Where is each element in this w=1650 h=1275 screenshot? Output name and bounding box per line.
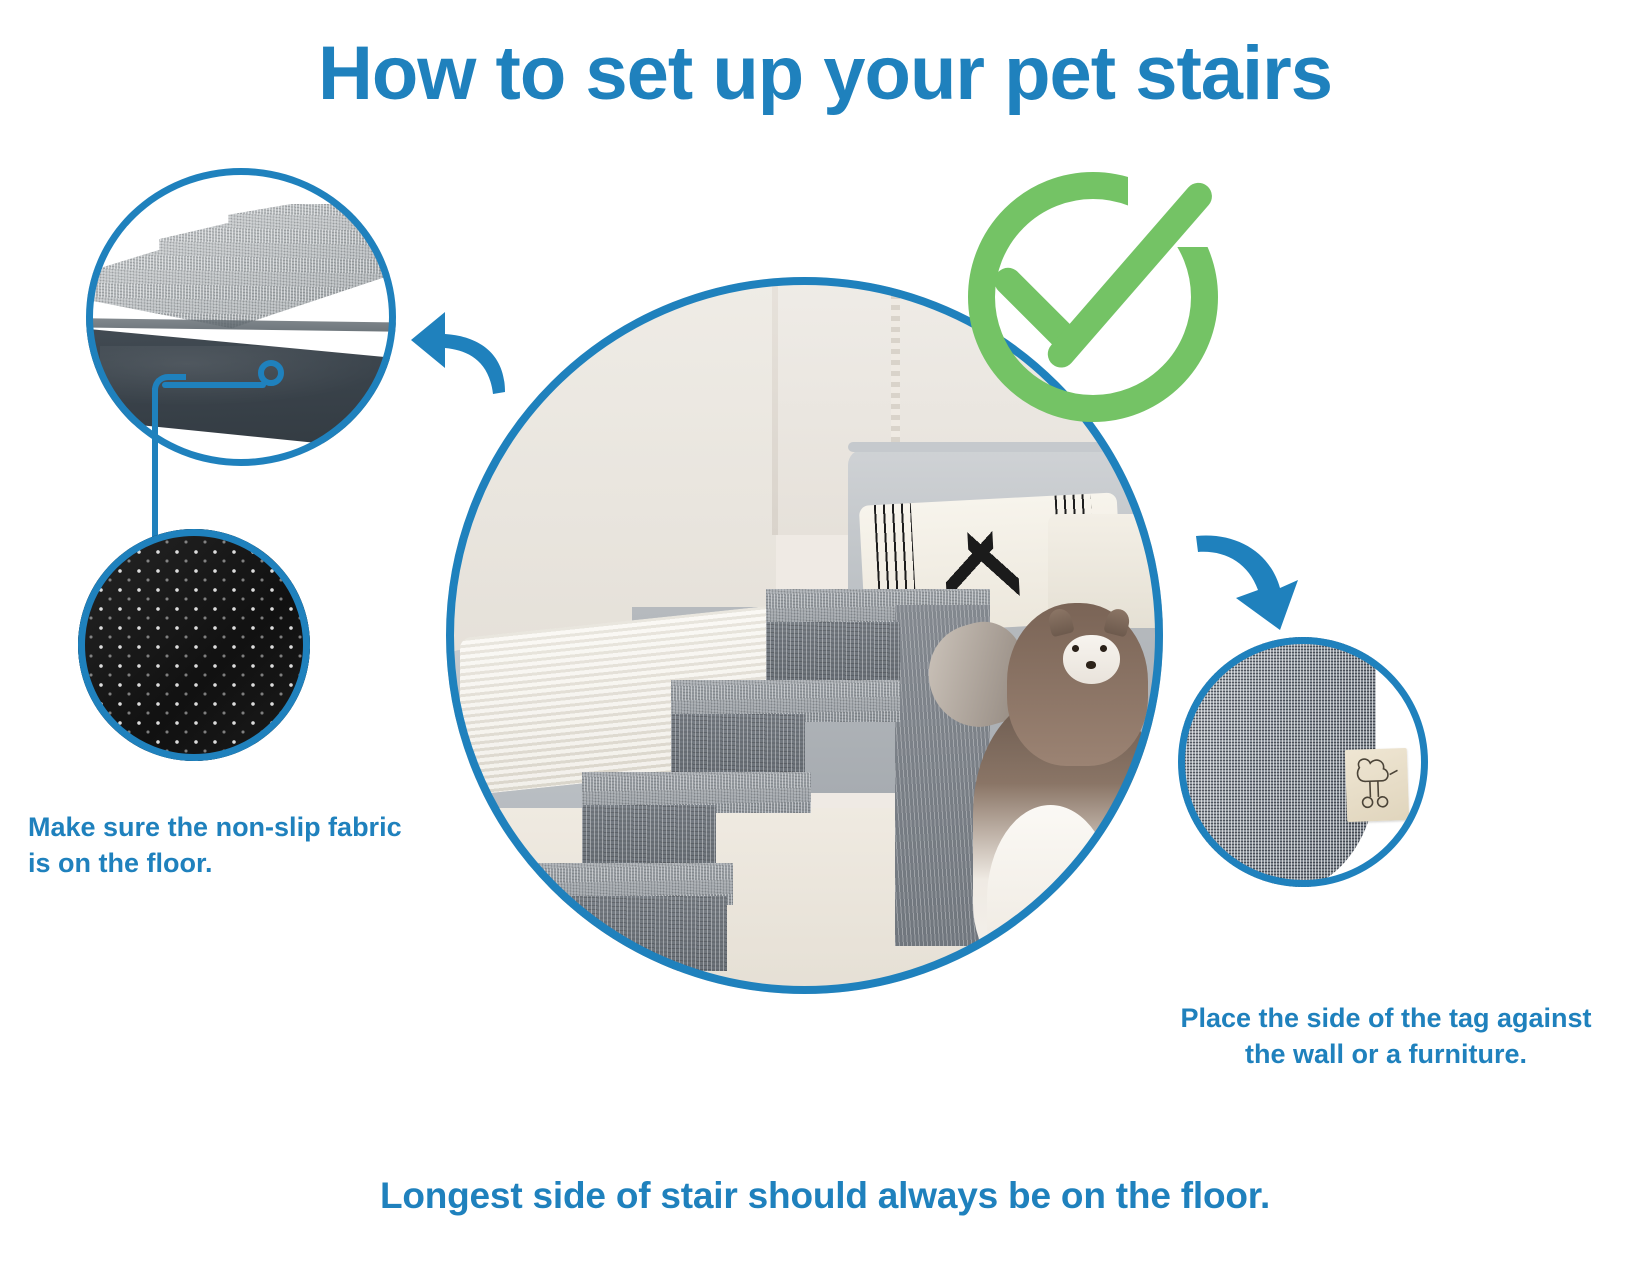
caption-right-line-1: Place the side of the tag against (1140, 1000, 1632, 1036)
dog-paw-left (997, 955, 1036, 994)
caption-bottom: Longest side of stair should always be o… (0, 1175, 1650, 1217)
panel-ring-non-slip-fabric (78, 529, 310, 761)
curved-arrow-left-icon (405, 300, 515, 395)
page-title: How to set up your pet stairs (0, 36, 1650, 112)
curved-arrow-right-down-icon (1192, 526, 1302, 636)
green-check-circle-icon (968, 172, 1218, 422)
caption-left-line-1: Make sure the non-slip fabric (28, 810, 458, 846)
panel-ring-tag-side (1178, 637, 1428, 887)
caption-left: Make sure the non-slip fabric is on the … (28, 810, 458, 881)
caption-right-line-2: the wall or a furniture. (1140, 1036, 1632, 1072)
caption-right: Place the side of the tag against the wa… (1140, 1000, 1632, 1073)
dog-paw-right (1060, 955, 1099, 994)
caption-left-line-2: is on the floor. (28, 846, 458, 882)
infographic-canvas: How to set up your pet stairs Make sure … (0, 0, 1650, 1275)
